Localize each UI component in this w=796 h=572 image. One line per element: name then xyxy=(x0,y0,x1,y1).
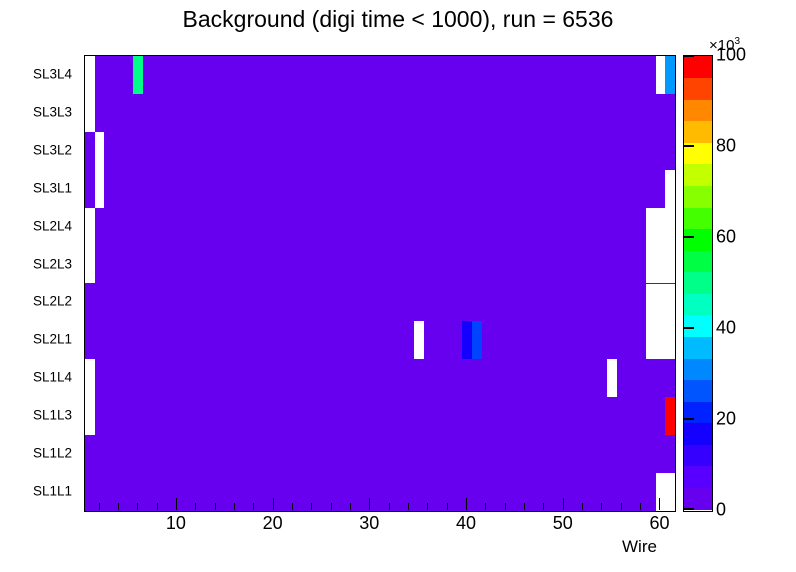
x-axis-minor-tick xyxy=(427,503,428,510)
heatmap-cell xyxy=(665,397,675,435)
heatmap-cell xyxy=(607,359,617,397)
heatmap-cell xyxy=(646,246,675,284)
heatmap-cell xyxy=(414,321,424,359)
plot-frame xyxy=(84,55,676,512)
x-axis-minor-tick xyxy=(408,503,409,510)
colorbar-tick-label: 60 xyxy=(716,227,736,248)
colorbar-band xyxy=(684,56,712,78)
colorbar-band xyxy=(684,78,712,100)
x-axis-tick-label: 20 xyxy=(263,513,283,534)
x-axis-tick-label: 40 xyxy=(456,513,476,534)
heatmap-cell xyxy=(472,321,482,359)
colorbar-band xyxy=(684,164,712,186)
x-axis-minor-tick xyxy=(350,503,351,510)
y-axis-tick-label: SL1L2 xyxy=(33,446,72,461)
x-axis-tick-label: 10 xyxy=(166,513,186,534)
x-axis-minor-tick xyxy=(543,503,544,510)
colorbar-tick-label: 80 xyxy=(716,136,736,157)
x-axis-major-tick xyxy=(176,498,177,510)
heatmap-cell xyxy=(85,94,95,132)
colorbar-band xyxy=(684,487,712,509)
heatmap-cell xyxy=(646,208,675,246)
x-axis-minor-tick xyxy=(215,503,216,510)
y-axis-labels: SL1L1SL1L2SL1L3SL1L4SL2L1SL2L2SL2L3SL2L4… xyxy=(0,55,80,510)
y-axis-tick-label: SL3L2 xyxy=(33,142,72,157)
heatmap-cell xyxy=(665,473,675,511)
colorbar-band xyxy=(684,358,712,380)
heatmap-cell xyxy=(85,56,95,94)
colorbar-band xyxy=(684,185,712,207)
x-axis-minor-tick xyxy=(389,503,390,510)
heatmap-cells xyxy=(85,56,675,511)
root-canvas: Background (digi time < 1000), run = 653… xyxy=(0,0,796,572)
x-axis-minor-tick xyxy=(505,503,506,510)
x-axis-minor-tick xyxy=(253,503,254,510)
x-axis-minor-tick xyxy=(234,503,235,510)
colorbar-band xyxy=(684,380,712,402)
colorbar-band xyxy=(684,99,712,121)
x-axis-minor-tick xyxy=(137,503,138,510)
heatmap-cell xyxy=(665,170,675,208)
heatmap-cell xyxy=(646,284,675,322)
y-axis-tick-label: SL2L4 xyxy=(33,218,72,233)
colorbar xyxy=(683,55,713,512)
y-axis-tick-label: SL1L4 xyxy=(33,370,72,385)
x-axis-title: Wire xyxy=(622,537,657,557)
y-axis-tick-label: SL2L2 xyxy=(33,294,72,309)
x-axis-minor-tick xyxy=(582,503,583,510)
heatmap-cell xyxy=(95,132,105,170)
x-axis-minor-tick xyxy=(195,503,196,510)
colorbar-band xyxy=(684,423,712,445)
x-axis-minor-tick xyxy=(99,503,100,510)
x-axis-major-tick xyxy=(273,498,274,510)
colorbar-band xyxy=(684,466,712,488)
heatmap-cell xyxy=(85,208,95,246)
colorbar-band xyxy=(684,121,712,143)
x-axis-minor-tick xyxy=(311,503,312,510)
colorbar-band xyxy=(684,336,712,358)
heatmap-cell xyxy=(646,321,675,359)
heatmap-cell xyxy=(85,397,95,435)
heatmap-cell xyxy=(133,56,143,94)
heatmap-cell xyxy=(665,56,675,94)
colorbar-band xyxy=(684,272,712,294)
x-axis-major-tick xyxy=(659,498,660,510)
y-axis-tick-label: SL1L3 xyxy=(33,408,72,423)
colorbar-tick-label: 100 xyxy=(716,45,746,66)
y-axis-tick-label: SL3L1 xyxy=(33,180,72,195)
colorbar-tick-label: 0 xyxy=(716,500,726,521)
colorbar-band xyxy=(684,444,712,466)
x-axis-minor-tick xyxy=(601,503,602,510)
x-axis-minor-tick xyxy=(524,503,525,510)
x-axis-minor-tick xyxy=(331,503,332,510)
page-title: Background (digi time < 1000), run = 653… xyxy=(0,6,796,33)
x-axis-minor-tick xyxy=(485,503,486,510)
x-axis-minor-tick xyxy=(292,503,293,510)
colorbar-band xyxy=(684,293,712,315)
colorbar-tick xyxy=(683,418,694,420)
y-axis-tick-label: SL3L4 xyxy=(33,66,72,81)
heatmap-cell xyxy=(95,170,105,208)
heatmap-cell xyxy=(85,246,95,284)
x-axis-minor-tick xyxy=(157,503,158,510)
x-axis-major-tick xyxy=(369,498,370,510)
x-axis-minor-tick xyxy=(447,503,448,510)
x-axis-tick-label: 30 xyxy=(359,513,379,534)
colorbar-tick-label: 20 xyxy=(716,409,736,430)
y-axis-tick-label: SL2L3 xyxy=(33,256,72,271)
colorbar-tick xyxy=(683,327,694,329)
x-axis-minor-tick xyxy=(118,503,119,510)
x-axis-major-tick xyxy=(563,498,564,510)
colorbar-band xyxy=(684,315,712,337)
colorbar-band xyxy=(684,250,712,272)
heatmap-cell xyxy=(85,359,95,397)
x-axis-minor-tick xyxy=(640,503,641,510)
colorbar-band xyxy=(684,229,712,251)
colorbar-tick-label: 40 xyxy=(716,318,736,339)
x-axis-minor-tick xyxy=(621,503,622,510)
y-axis-tick-label: SL2L1 xyxy=(33,332,72,347)
x-axis-major-tick xyxy=(466,498,467,510)
y-axis-tick-label: SL1L1 xyxy=(33,484,72,499)
x-axis-tick-label: 50 xyxy=(553,513,573,534)
colorbar-tick xyxy=(683,145,694,147)
x-axis-tick-label: 60 xyxy=(649,513,669,534)
colorbar-tick xyxy=(683,55,694,57)
heatmap-cell xyxy=(656,56,666,94)
colorbar-tick xyxy=(683,236,694,238)
colorbar-band xyxy=(684,207,712,229)
colorbar-tick xyxy=(683,508,694,510)
heatmap-cell xyxy=(462,321,472,359)
y-axis-tick-label: SL3L3 xyxy=(33,104,72,119)
heatmap-baseline xyxy=(85,56,675,511)
